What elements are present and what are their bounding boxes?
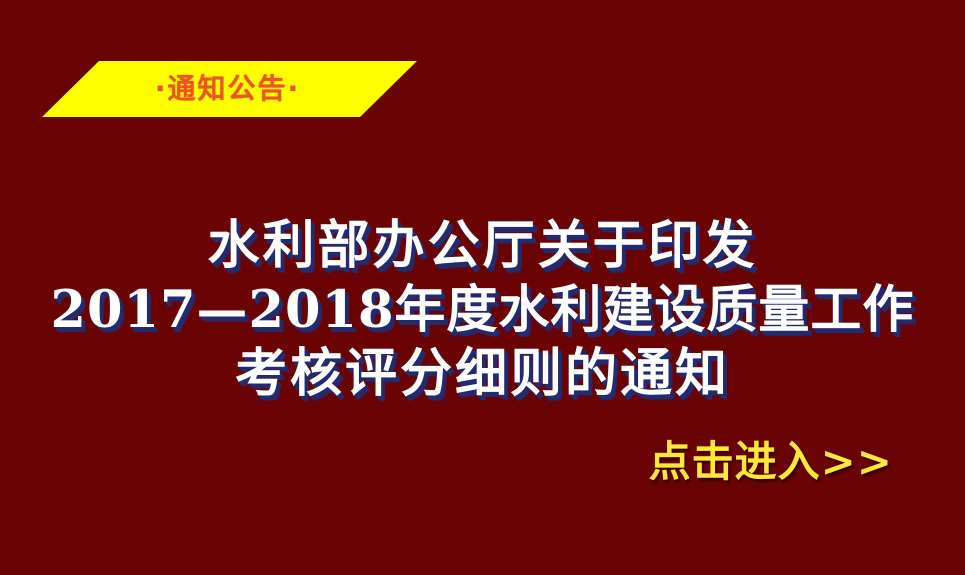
title-line-1: 水利部办公厅关于印发 bbox=[0, 214, 965, 278]
notice-ribbon: ·通知公告· bbox=[42, 61, 417, 117]
announcement-banner: ·通知公告· 水利部办公厅关于印发 2017—2018年度水利建设质量工作 考核… bbox=[0, 0, 965, 575]
title-line-2: 2017—2018年度水利建设质量工作 bbox=[0, 278, 965, 342]
page-title: 水利部办公厅关于印发 2017—2018年度水利建设质量工作 考核评分细则的通知 bbox=[0, 214, 965, 406]
ribbon-label: ·通知公告· bbox=[42, 61, 417, 117]
enter-link[interactable]: 点击进入>> bbox=[649, 436, 893, 488]
title-line-3: 考核评分细则的通知 bbox=[0, 342, 965, 406]
cta-container: 点击进入>> bbox=[0, 436, 965, 488]
